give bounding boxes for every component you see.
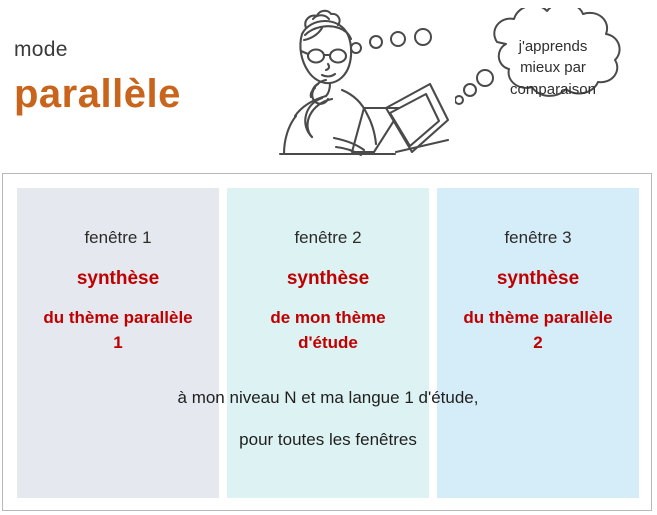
- thought-bubble-text: j'apprends mieux par comparaison: [477, 36, 629, 100]
- window-1-synthesis-label: synthèse: [17, 268, 219, 290]
- window-2-theme-line-2: d'étude: [227, 331, 429, 356]
- mode-label: mode: [14, 38, 68, 62]
- parallel-mode-panel: fenêtre 1 synthèse du thème parallèle 1 …: [2, 173, 652, 511]
- window-1-theme-line-2: 1: [17, 331, 219, 356]
- window-3-synthesis-label: synthèse: [437, 268, 639, 290]
- window-2-theme-line-1: de mon thème: [227, 306, 429, 331]
- bubble-line-2: mieux par: [477, 57, 629, 78]
- window-2-label: fenêtre 2: [227, 228, 429, 248]
- window-1-label: fenêtre 1: [17, 228, 219, 248]
- thought-dots: [346, 28, 466, 72]
- footer-line-1: à mon niveau N et ma langue 1 d'étude,: [3, 388, 653, 408]
- window-3-theme-line-1: du thème parallèle: [437, 306, 639, 331]
- footer-line-2: pour toutes les fenêtres: [3, 430, 653, 450]
- bubble-line-1: j'apprends: [477, 36, 629, 57]
- bubble-line-3: comparaison: [477, 79, 629, 100]
- window-1-theme-line-1: du thème parallèle: [17, 306, 219, 331]
- window-2-synthesis-label: synthèse: [227, 268, 429, 290]
- thought-bubble: j'apprends mieux par comparaison: [455, 8, 651, 128]
- header-area: mode parallèle: [0, 0, 657, 172]
- window-3-label: fenêtre 3: [437, 228, 639, 248]
- window-3-theme-line-2: 2: [437, 331, 639, 356]
- panel-footer: à mon niveau N et ma langue 1 d'étude, p…: [3, 388, 653, 472]
- page-title: parallèle: [14, 72, 181, 117]
